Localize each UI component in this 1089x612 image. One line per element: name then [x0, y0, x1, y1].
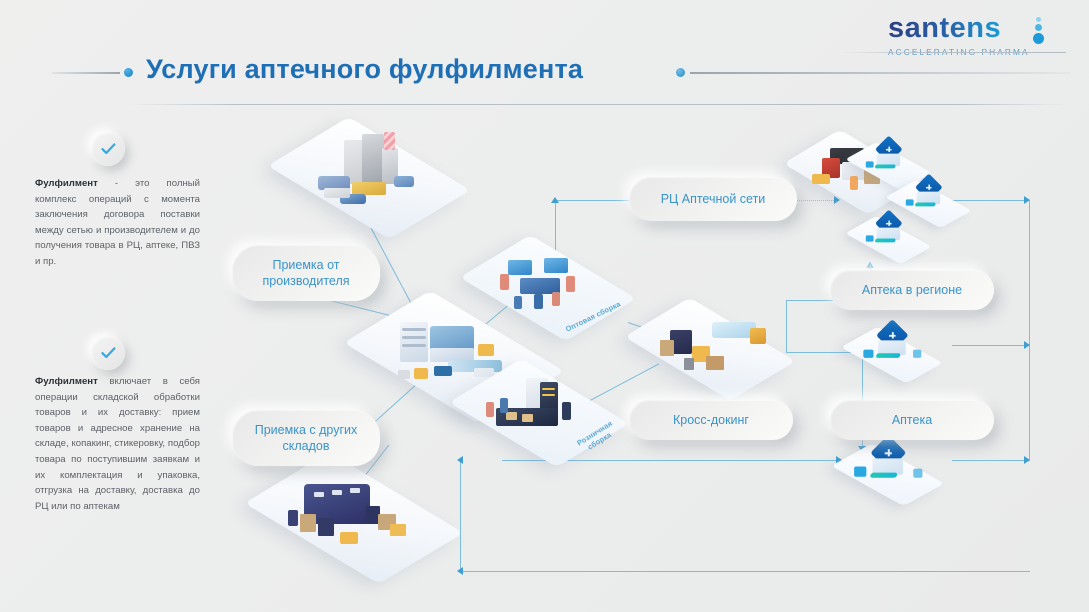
pill-rc-pharmacy-network[interactable]: РЦ Аптечной сети	[629, 177, 797, 221]
arrow-rc-to-bus	[1024, 196, 1030, 204]
pill-intake-from-manufacturer[interactable]: Приемка от производителя	[232, 245, 380, 301]
factory-scene	[300, 132, 438, 224]
paragraph-body-1: - это полный комплекс операций с момента…	[35, 178, 200, 267]
pill-intake-from-other-warehouses[interactable]: Приемка с других складов	[232, 410, 380, 466]
flow-rc-to-bus	[948, 200, 1030, 201]
logo-dots-icon	[1032, 17, 1048, 51]
arrow-wholesale-up	[551, 197, 559, 203]
paragraph-lead-2: Фулфилмент	[35, 376, 98, 387]
flow-return-left-vert	[460, 460, 461, 572]
check-icon-2	[91, 336, 125, 370]
header-divider	[840, 52, 1066, 53]
fulfillment-definition-paragraph: Фулфилмент - это полный комплекс операци…	[35, 176, 200, 270]
paragraph-body-2: включает в себя операции складской обраб…	[35, 376, 200, 512]
check-icon-1	[91, 132, 125, 166]
arrow-return-up	[457, 456, 463, 464]
flow-return-bottom	[460, 571, 1030, 572]
page-title: Услуги аптечного фулфилмента	[146, 54, 583, 85]
title-dot-left-icon	[124, 68, 133, 77]
slide-root: santens ACCELERATING PHARMA Услуги аптеч…	[0, 0, 1089, 612]
fulfillment-scope-paragraph: Фулфилмент включает в себя операции скла…	[35, 374, 200, 514]
brand-logo: santens ACCELERATING PHARMA	[888, 14, 1048, 57]
paragraph-lead-1: Фулфилмент	[35, 178, 98, 189]
arrow-pharmacy-to-bus	[1024, 456, 1030, 464]
title-line-right	[690, 72, 1070, 74]
flow-crossdock-up	[786, 300, 787, 352]
title-dot-right-icon	[676, 68, 685, 77]
pill-pharmacy[interactable]: Аптека	[830, 400, 994, 440]
arrow-return-left	[457, 567, 463, 575]
flow-pharmacy-to-bus	[952, 460, 1030, 461]
pill-cross-docking[interactable]: Кросс-докинг	[629, 400, 793, 440]
logo-wordmark: santens	[888, 14, 1048, 43]
flow-retail-to-crossdock	[590, 363, 660, 401]
other-warehouse-scene	[278, 470, 430, 566]
arrow-region-to-bus	[1024, 341, 1030, 349]
cross-docking-scene	[650, 312, 770, 386]
pill-pharmacy-in-region[interactable]: Аптека в регионе	[830, 270, 994, 310]
flow-right-bus	[1029, 200, 1030, 460]
title-line-left	[52, 72, 120, 74]
title-underline	[128, 104, 1066, 105]
flow-region-to-bus	[952, 345, 1030, 346]
